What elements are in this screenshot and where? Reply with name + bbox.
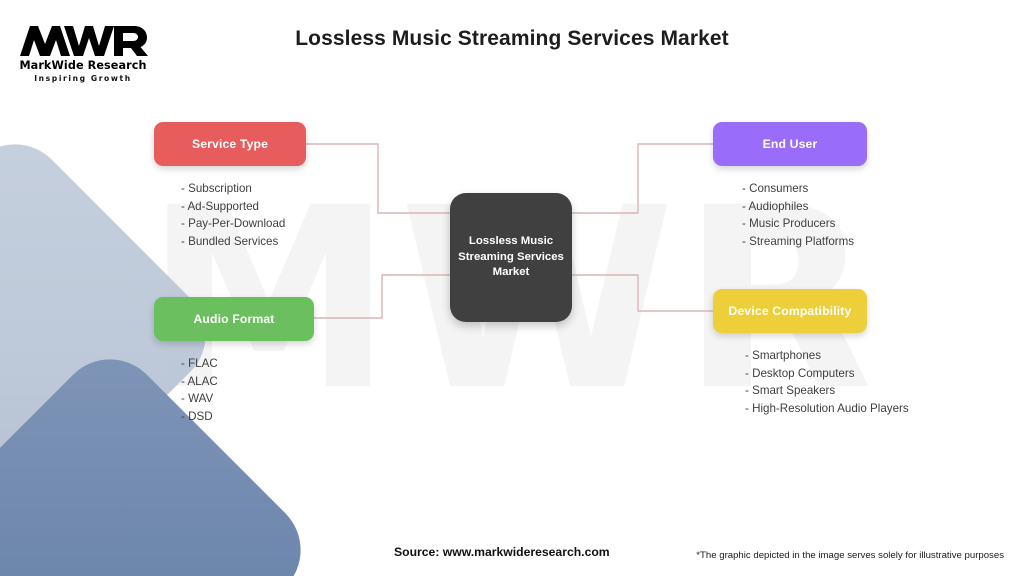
source-note: Source: www.markwideresearch.com: [394, 545, 610, 559]
list-item: - Ad-Supported: [181, 198, 306, 216]
list-item: - WAV: [181, 390, 314, 408]
branch-service-type: Service Type - Subscription - Ad-Support…: [154, 122, 306, 251]
branch-device-compatibility-header: Device Compatibility: [713, 289, 867, 333]
list-item: - Subscription: [181, 180, 306, 198]
list-item: - Smartphones: [745, 347, 909, 365]
branch-device-compatibility-list: - Smartphones - Desktop Computers - Smar…: [713, 347, 909, 418]
list-item: - FLAC: [181, 355, 314, 373]
list-item: - High-Resolution Audio Players: [745, 400, 909, 418]
branch-end-user-title: End User: [763, 137, 818, 151]
branch-audio-format-list: - FLAC - ALAC - WAV - DSD: [154, 355, 314, 426]
list-item: - Bundled Services: [181, 233, 306, 251]
connector-audio-format: [314, 275, 450, 318]
branch-audio-format-title: Audio Format: [193, 312, 274, 326]
branch-service-type-title: Service Type: [192, 137, 268, 151]
logo-tagline: Inspiring Growth: [18, 74, 148, 83]
list-item: - Audiophiles: [742, 198, 867, 216]
branch-end-user-header: End User: [713, 122, 867, 166]
list-item: - Desktop Computers: [745, 365, 909, 383]
branch-service-type-header: Service Type: [154, 122, 306, 166]
list-item: - Streaming Platforms: [742, 233, 867, 251]
connector-device-compatibility: [572, 275, 713, 311]
list-item: - DSD: [181, 408, 314, 426]
logo-company-name: MarkWide Research: [18, 59, 148, 72]
center-node: Lossless Music Streaming Services Market: [450, 193, 572, 322]
page-title: Lossless Music Streaming Services Market: [0, 27, 1024, 51]
disclaimer-note: *The graphic depicted in the image serve…: [696, 550, 1004, 561]
branch-device-compatibility: Device Compatibility - Smartphones - Des…: [713, 289, 909, 418]
list-item: - ALAC: [181, 373, 314, 391]
branch-audio-format: Audio Format - FLAC - ALAC - WAV - DSD: [154, 297, 314, 426]
list-item: - Consumers: [742, 180, 867, 198]
connector-service-type: [306, 144, 450, 213]
list-item: - Music Producers: [742, 215, 867, 233]
list-item: - Smart Speakers: [745, 382, 909, 400]
branch-device-compatibility-title: Device Compatibility: [729, 304, 852, 318]
branch-end-user-list: - Consumers - Audiophiles - Music Produc…: [713, 180, 867, 251]
branch-end-user: End User - Consumers - Audiophiles - Mus…: [713, 122, 867, 251]
list-item: - Pay-Per-Download: [181, 215, 306, 233]
branch-audio-format-header: Audio Format: [154, 297, 314, 341]
center-node-label: Lossless Music Streaming Services Market: [450, 234, 572, 281]
connector-end-user: [572, 144, 713, 213]
branch-service-type-list: - Subscription - Ad-Supported - Pay-Per-…: [154, 180, 306, 251]
